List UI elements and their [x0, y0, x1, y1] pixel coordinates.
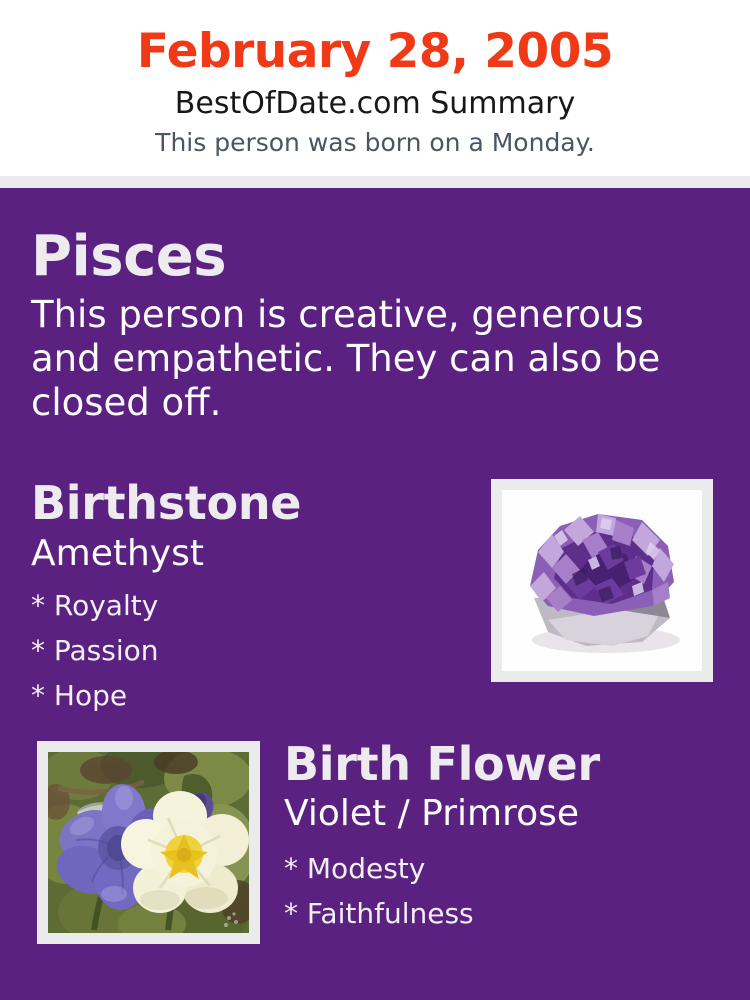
birth-flower-name: Violet / Primrose	[284, 793, 579, 835]
birthstone-photo-frame	[491, 479, 713, 682]
header: February 28, 2005 BestOfDate.com Summary…	[0, 0, 750, 176]
birthstone-heading: Birthstone	[31, 476, 301, 530]
details-panel: Pisces This person is creative, generous…	[0, 188, 750, 1000]
site-summary-subtitle: BestOfDate.com Summary	[0, 86, 750, 122]
zodiac-description: This person is creative, generous and em…	[31, 293, 703, 425]
list-item: * Faithfulness	[284, 891, 714, 936]
birth-flower-heading: Birth Flower	[284, 737, 600, 791]
violet-and-primrose-flowers-photo	[48, 752, 249, 933]
born-weekday-text: This person was born on a Monday.	[0, 127, 750, 158]
header-divider	[0, 176, 750, 188]
list-item: * Passion	[31, 628, 451, 673]
list-item: * Royalty	[31, 583, 451, 628]
list-item: * Modesty	[284, 846, 714, 891]
birthstone-trait-list: * Royalty * Passion * Hope	[31, 583, 451, 718]
birth-flower-trait-list: * Modesty * Faithfulness	[284, 846, 714, 936]
page-title-date: February 28, 2005	[0, 24, 750, 80]
list-item: * Hope	[31, 673, 451, 718]
birthstone-name: Amethyst	[31, 533, 204, 575]
birthdate-summary-card: February 28, 2005 BestOfDate.com Summary…	[0, 0, 750, 1000]
birth-flower-photo-frame	[37, 741, 260, 944]
zodiac-sign-heading: Pisces	[31, 226, 226, 288]
amethyst-crystal-cluster-photo	[502, 490, 702, 671]
